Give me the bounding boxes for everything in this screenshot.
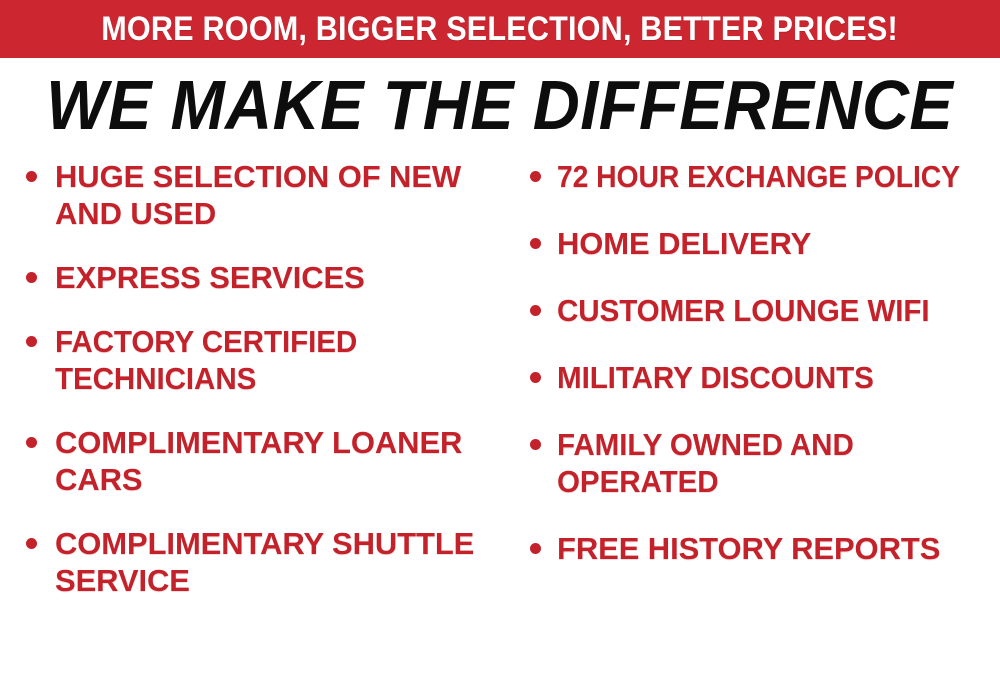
bullet-dot-icon <box>26 538 37 549</box>
benefits-columns: HUGE SELECTION OF NEW AND USED EXPRESS S… <box>0 158 1000 694</box>
list-item: 72 HOUR EXCHANGE POLICY <box>520 158 1000 195</box>
bullet-label: COMPLIMENTARY LOANER CARS <box>55 424 496 498</box>
bullet-label: HUGE SELECTION OF NEW AND USED <box>55 158 496 232</box>
bullet-dot-icon <box>530 305 541 316</box>
bullet-label: MILITARY DISCOUNTS <box>557 359 980 396</box>
bullet-dot-icon <box>26 336 37 347</box>
list-item: CUSTOMER LOUNGE WIFI <box>520 292 1000 329</box>
list-item: FREE HISTORY REPORTS <box>520 530 1000 567</box>
list-item: COMPLIMENTARY SHUTTLE SERVICE <box>18 525 496 599</box>
promotional-banner: MORE ROOM, BIGGER SELECTION, BETTER PRIC… <box>0 0 1000 694</box>
bullet-label: FACTORY CERTIFIED TECHNICIANS <box>55 323 476 397</box>
headline-container: WE MAKE THE DIFFERENCE <box>0 68 1000 142</box>
list-item: FACTORY CERTIFIED TECHNICIANS <box>18 323 496 397</box>
bullet-label: CUSTOMER LOUNGE WIFI <box>557 292 980 329</box>
bullet-dot-icon <box>26 437 37 448</box>
bullet-dot-icon <box>530 543 541 554</box>
list-item: COMPLIMENTARY LOANER CARS <box>18 424 496 498</box>
top-strip-headline: MORE ROOM, BIGGER SELECTION, BETTER PRIC… <box>102 12 899 46</box>
bullet-dot-icon <box>530 439 541 450</box>
list-item: HUGE SELECTION OF NEW AND USED <box>18 158 496 232</box>
benefits-column-left: HUGE SELECTION OF NEW AND USED EXPRESS S… <box>0 158 500 626</box>
list-item: EXPRESS SERVICES <box>18 259 496 296</box>
bullet-dot-icon <box>530 372 541 383</box>
bullet-label: FAMILY OWNED AND OPERATED <box>557 426 980 500</box>
bullet-dot-icon <box>26 272 37 283</box>
bullet-label: 72 HOUR EXCHANGE POLICY <box>557 158 962 195</box>
bullet-label: HOME DELIVERY <box>557 225 1000 262</box>
bullet-label: COMPLIMENTARY SHUTTLE SERVICE <box>55 525 496 599</box>
main-headline: WE MAKE THE DIFFERENCE <box>46 70 953 140</box>
list-item: HOME DELIVERY <box>520 225 1000 262</box>
bullet-dot-icon <box>26 171 37 182</box>
list-item: MILITARY DISCOUNTS <box>520 359 1000 396</box>
list-item: FAMILY OWNED AND OPERATED <box>520 426 1000 500</box>
bullet-label: EXPRESS SERVICES <box>55 259 496 296</box>
benefits-column-right: 72 HOUR EXCHANGE POLICY HOME DELIVERY CU… <box>500 158 1000 597</box>
top-red-strip: MORE ROOM, BIGGER SELECTION, BETTER PRIC… <box>0 0 1000 58</box>
bullet-dot-icon <box>530 171 541 182</box>
bullet-dot-icon <box>530 238 541 249</box>
bullet-label: FREE HISTORY REPORTS <box>557 530 1000 567</box>
